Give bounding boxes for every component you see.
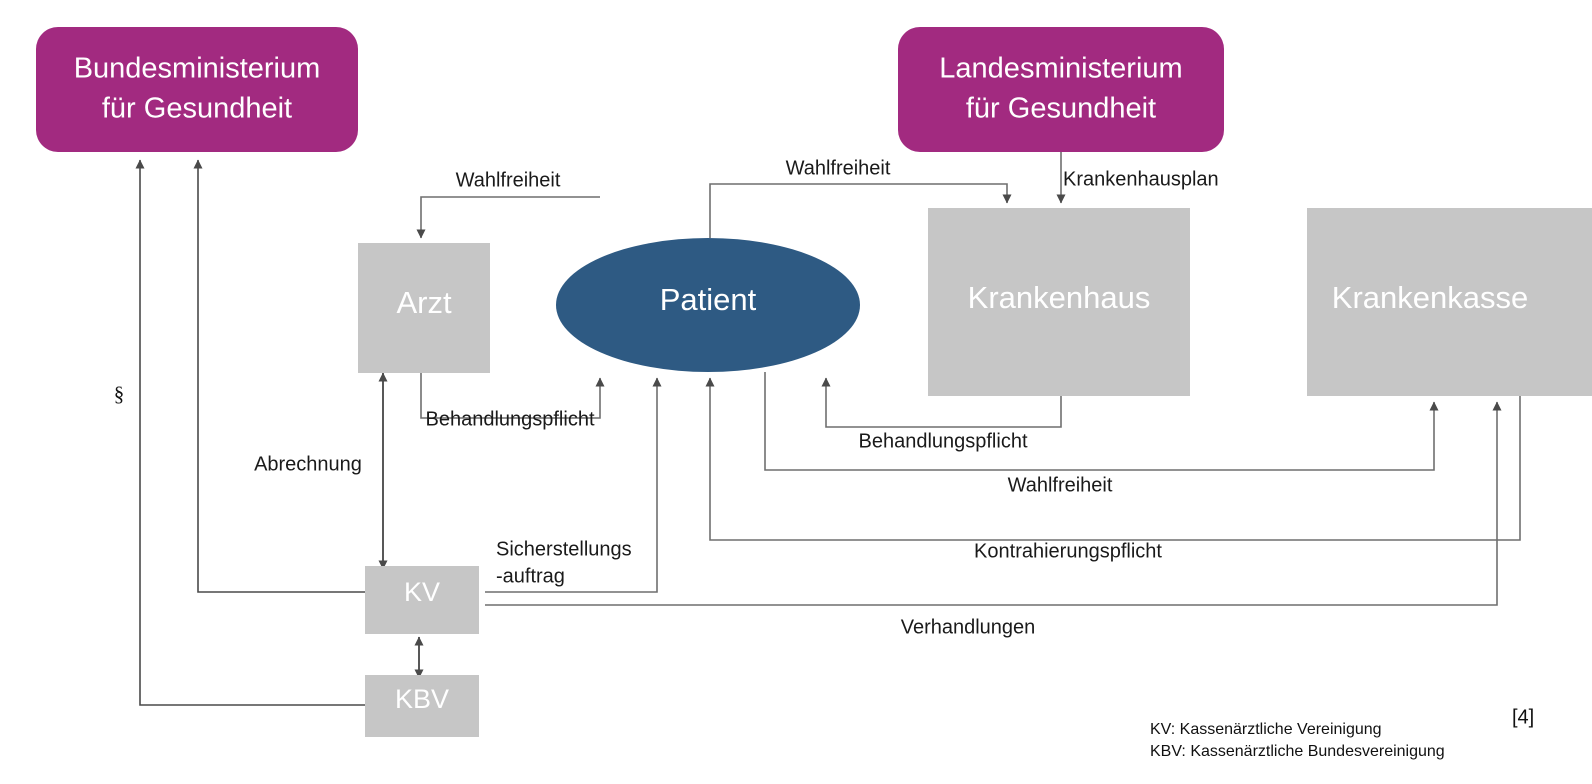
label-sicherstellungsauftrag-line2: -auftrag <box>496 565 565 587</box>
arzt-label: Arzt <box>396 285 452 320</box>
label-abrechnung: Abrechnung <box>254 453 362 475</box>
label-wahlfreiheit-krankenkasse: Wahlfreiheit <box>1008 474 1113 496</box>
node-krankenhaus[interactable]: Krankenhaus <box>928 208 1190 396</box>
reference-marker: [4] <box>1512 706 1534 728</box>
krankenhaus-label: Krankenhaus <box>968 280 1151 315</box>
edge-kv-to-bundesministerium <box>198 160 369 592</box>
node-kv[interactable]: KV <box>365 566 479 634</box>
landesministerium-label-line1: Landesministerium <box>939 53 1182 85</box>
label-behandlungspflicht-arzt: Behandlungspflicht <box>425 408 594 430</box>
node-patient[interactable]: Patient <box>556 238 860 372</box>
bundesministerium-shape <box>36 27 358 152</box>
edge-wahlfreiheit-patient-to-arzt <box>421 197 600 238</box>
label-paragraph-symbol: § <box>114 382 125 406</box>
label-wahlfreiheit-krankenhaus: Wahlfreiheit <box>786 157 891 179</box>
patient-label: Patient <box>660 282 757 317</box>
label-wahlfreiheit-arzt: Wahlfreiheit <box>456 169 561 191</box>
kv-label: KV <box>404 577 440 607</box>
edge-paragraph-kbv-to-bundesministerium <box>140 160 369 705</box>
label-krankenhausplan: Krankenhausplan <box>1063 168 1219 190</box>
bundesministerium-label-line2: für Gesundheit <box>102 93 292 125</box>
bundesministerium-label-line1: Bundesministerium <box>74 53 321 85</box>
healthcare-system-diagram: Bundesministerium für Gesundheit Landesm… <box>0 0 1592 784</box>
label-kontrahierungspflicht: Kontrahierungspflicht <box>974 540 1162 562</box>
kbv-label: KBV <box>395 684 449 714</box>
legend-kv: KV: Kassenärztliche Vereinigung <box>1150 721 1382 738</box>
edge-kontrahierungspflicht-krankenkasse-to-patient <box>710 378 1520 540</box>
landesministerium-shape <box>898 27 1224 152</box>
node-krankenkasse[interactable]: Krankenkasse <box>1307 208 1592 396</box>
label-behandlungspflicht-krankenhaus: Behandlungspflicht <box>858 430 1027 452</box>
node-bundesministerium[interactable]: Bundesministerium für Gesundheit <box>36 27 358 152</box>
node-arzt[interactable]: Arzt <box>358 243 490 373</box>
legend-kbv: KBV: Kassenärztliche Bundesvereinigung <box>1150 743 1445 760</box>
diagram-canvas: Bundesministerium für Gesundheit Landesm… <box>0 0 1592 784</box>
label-sicherstellungsauftrag-line1: Sicherstellungs <box>496 538 632 560</box>
node-landesministerium[interactable]: Landesministerium für Gesundheit <box>898 27 1224 152</box>
node-kbv[interactable]: KBV <box>365 675 479 737</box>
landesministerium-label-line2: für Gesundheit <box>966 93 1156 125</box>
label-verhandlungen: Verhandlungen <box>901 616 1036 638</box>
krankenkasse-label: Krankenkasse <box>1332 280 1528 315</box>
